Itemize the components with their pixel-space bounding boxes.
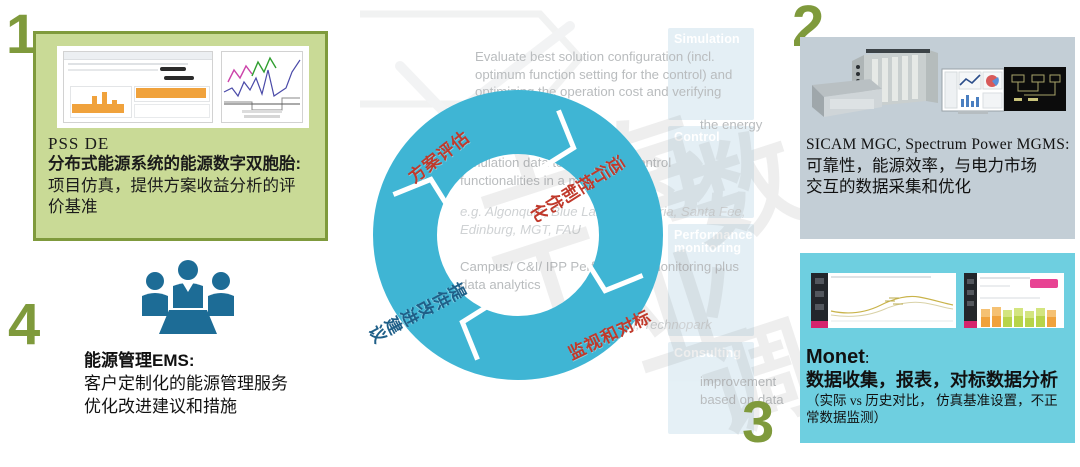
slide-canvas: Simulation Control Performance monitorin…: [0, 0, 1080, 467]
panel3-title-row: Monet:: [806, 345, 1071, 369]
panel4-line-2: 客户定制化的能源管理服务: [84, 372, 349, 395]
panel2-text: SICAM MGC, Spectrum Power MGMS: 可靠性，能源效率…: [806, 135, 1071, 197]
panel-monet[interactable]: Monet: 数据收集，报表，对标数据分析 （实际 vs 历史对比， 仿真基准设…: [800, 253, 1075, 443]
panel3-thumbnails: [807, 259, 1068, 341]
panel4-title: 能源管理EMS:: [84, 350, 349, 372]
panel3-line-2: 数据收集，报表，对标数据分析: [806, 369, 1071, 392]
panel1-line-3: 价基准: [48, 196, 319, 217]
panel3-text: Monet: 数据收集，报表，对标数据分析 （实际 vs 历史对比， 仿真基准设…: [806, 345, 1071, 426]
panel-pss-de[interactable]: PSS DE 分布式能源系统的能源数字双胞胎: 项目仿真，提供方案收益分析的评 …: [33, 31, 328, 241]
panel1-thumbnails: [57, 46, 309, 128]
panel4-line-3: 优化改进建议和措施: [84, 395, 349, 418]
background-item-label: Simulation: [674, 33, 752, 46]
step-number-3: 3: [742, 394, 774, 452]
panel2-thumbnails: [806, 41, 1069, 131]
panel3-title-colon: :: [865, 348, 870, 367]
line-chart-screenshot: [221, 51, 303, 123]
cycle-diagram: 方案评估 运行控制优化 监视和对标 提供改进建议: [368, 85, 668, 385]
panel1-line-bold: 分布式能源系统的能源数字双胞胎:: [48, 154, 319, 175]
panel3-note-1: （实际 vs 历史对比， 仿真基准设置，不正: [806, 392, 1071, 409]
panel2-line-3: 交互的数据采集和优化: [806, 176, 1071, 197]
panel4-text: 能源管理EMS: 客户定制化的能源管理服务 优化改进建议和措施: [84, 350, 349, 418]
panel2-line-2: 可靠性，能源效率，与电力市场: [806, 155, 1071, 176]
panel3-note-2: 常数据监测）: [806, 409, 1071, 426]
panel-ems[interactable]: 能源管理EMS: 客户定制化的能源管理服务 优化改进建议和措施: [40, 258, 340, 448]
monet-report-bars-screenshot: [964, 273, 1064, 328]
panel2-title: SICAM MGC, Spectrum Power MGMS:: [806, 135, 1071, 155]
panel1-title: PSS DE: [48, 134, 319, 154]
step-number-4: 4: [8, 296, 40, 354]
people-group-icon: [128, 258, 248, 338]
panel3-title: Monet: [806, 346, 865, 368]
monet-trend-dashboard-screenshot: [811, 273, 956, 328]
panel-sicam-mgc[interactable]: SICAM MGC, Spectrum Power MGMS: 可靠性，能源效率…: [800, 37, 1075, 239]
sicam-controller-hardware-photo: [806, 41, 1069, 131]
simulation-dashboard-screenshot: [63, 51, 213, 123]
panel1-text: PSS DE 分布式能源系统的能源数字双胞胎: 项目仿真，提供方案收益分析的评 …: [48, 134, 319, 217]
panel1-line-2: 项目仿真，提供方案收益分析的评: [48, 175, 319, 196]
